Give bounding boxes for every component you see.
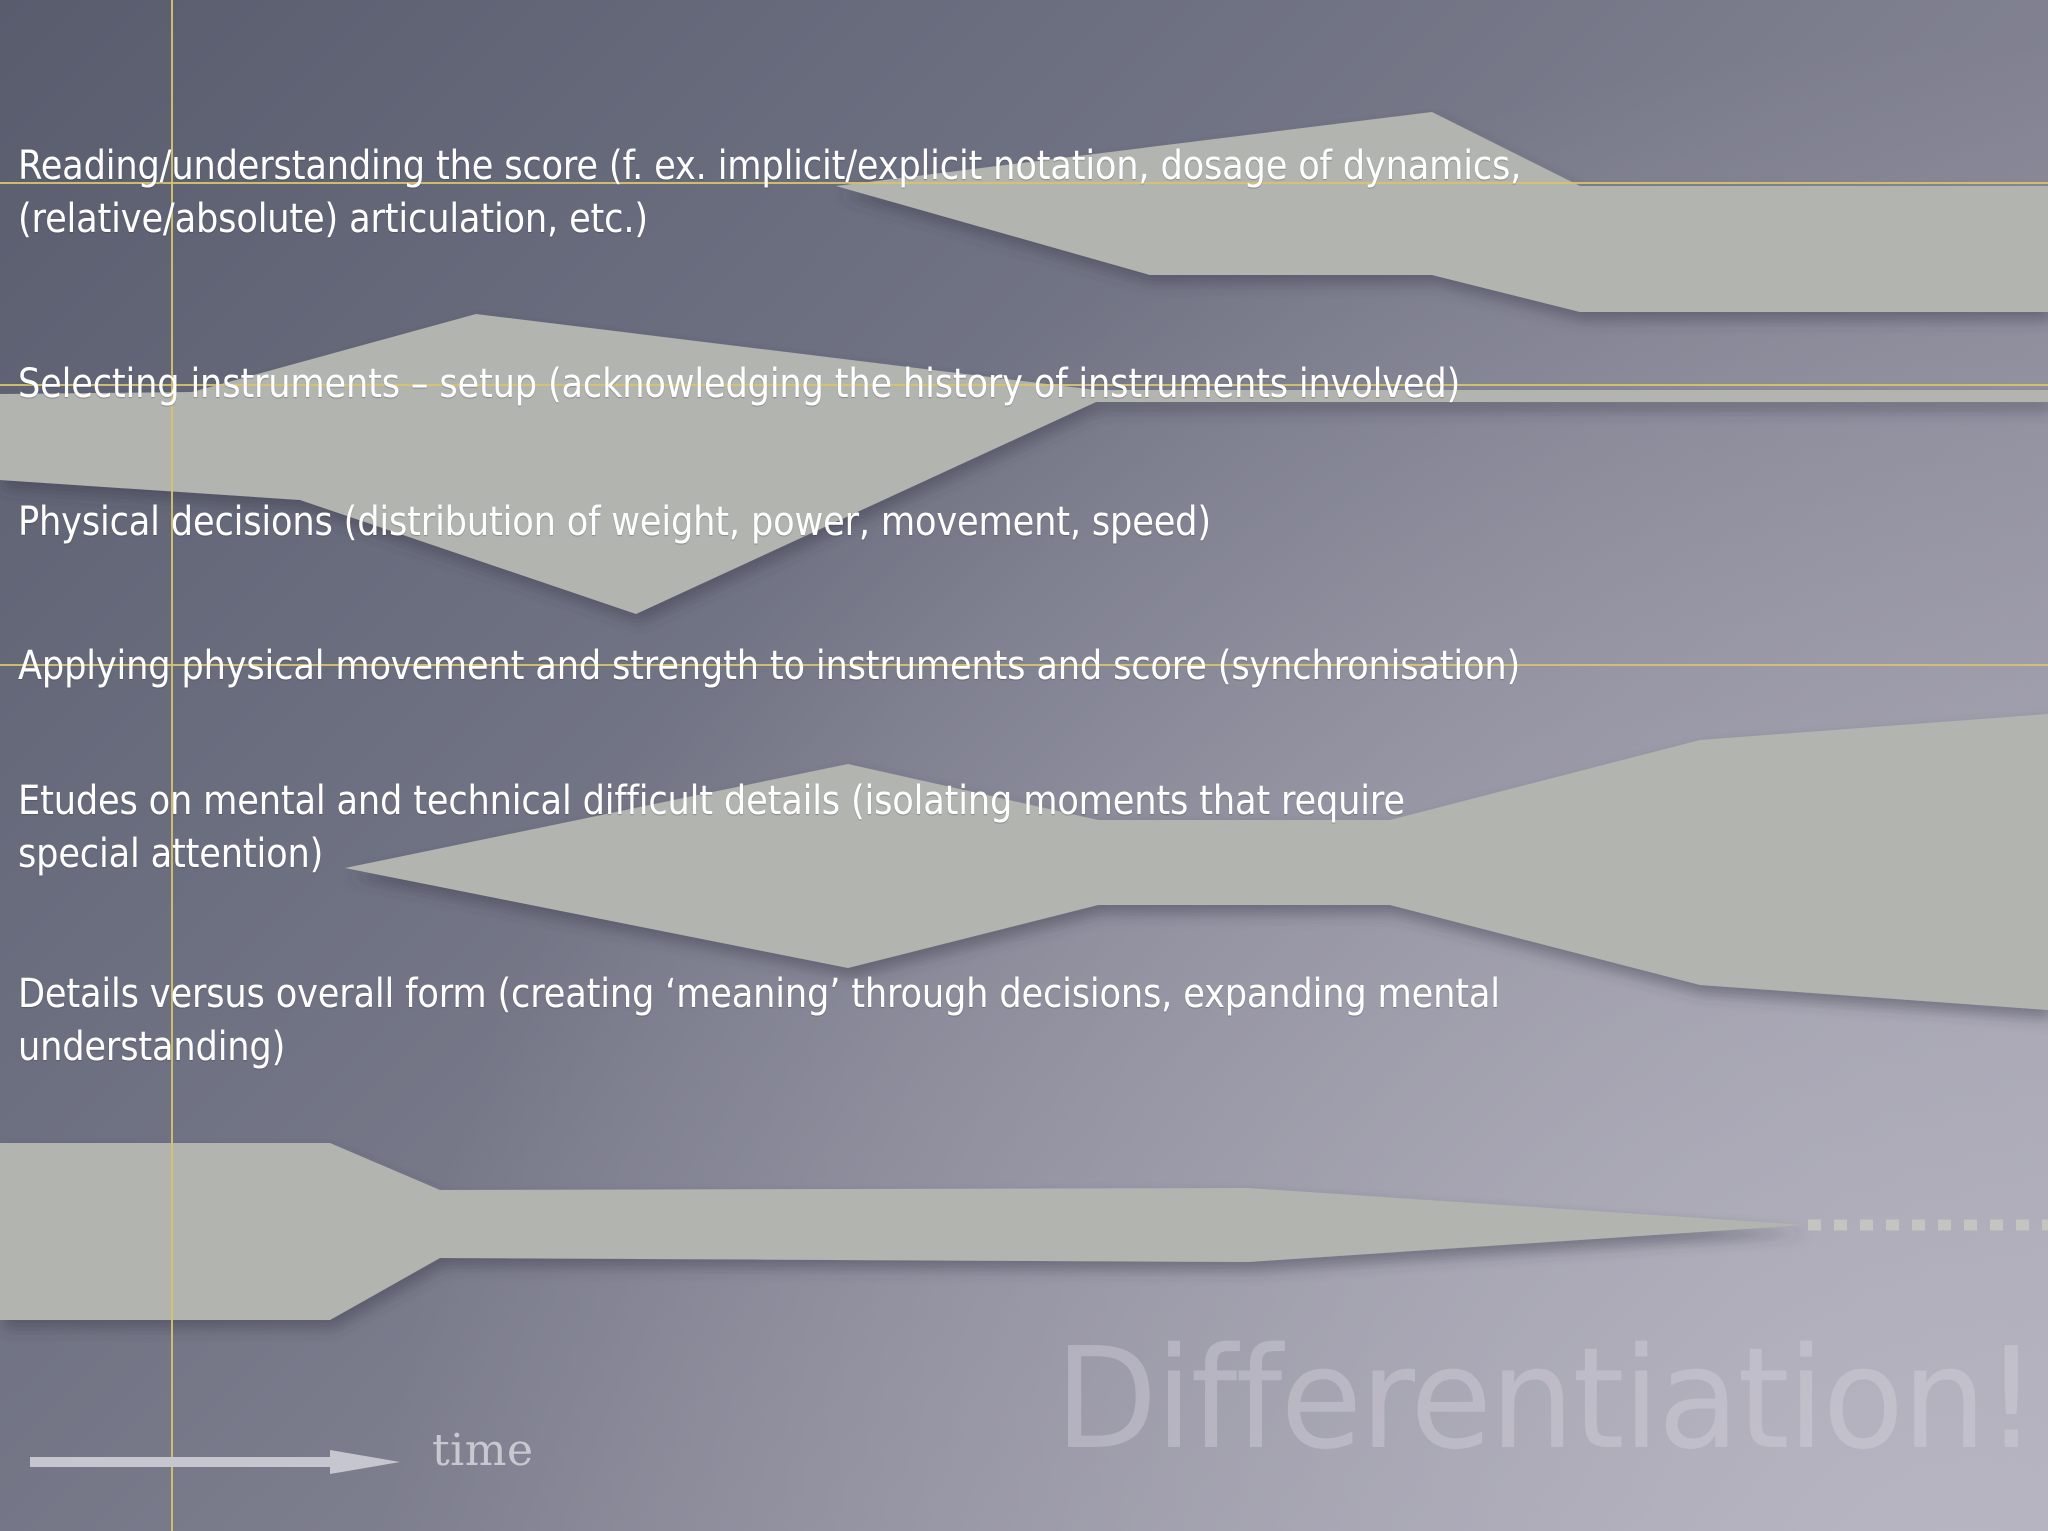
row-etudes: Etudes on mental and technical difficult… xyxy=(18,775,1514,881)
shape-details-versus-form xyxy=(0,1143,1805,1320)
row-applying-movement: Applying physical movement and strength … xyxy=(18,640,1558,693)
slide-canvas: Reading/understanding the score (f. ex. … xyxy=(0,0,2048,1531)
row-details-versus-form: Details versus overall form (creating ‘m… xyxy=(18,968,1514,1074)
time-axis-label: time xyxy=(432,1425,534,1476)
watermark-differentiation: Differentiation! xyxy=(1055,1330,2036,1470)
row-reading-score: Reading/understanding the score (f. ex. … xyxy=(18,140,1558,246)
right-arrow-icon xyxy=(30,1450,400,1474)
row-physical-decisions: Physical decisions (distribution of weig… xyxy=(18,496,1558,549)
row-selecting-instruments: Selecting instruments – setup (acknowled… xyxy=(18,358,1558,411)
